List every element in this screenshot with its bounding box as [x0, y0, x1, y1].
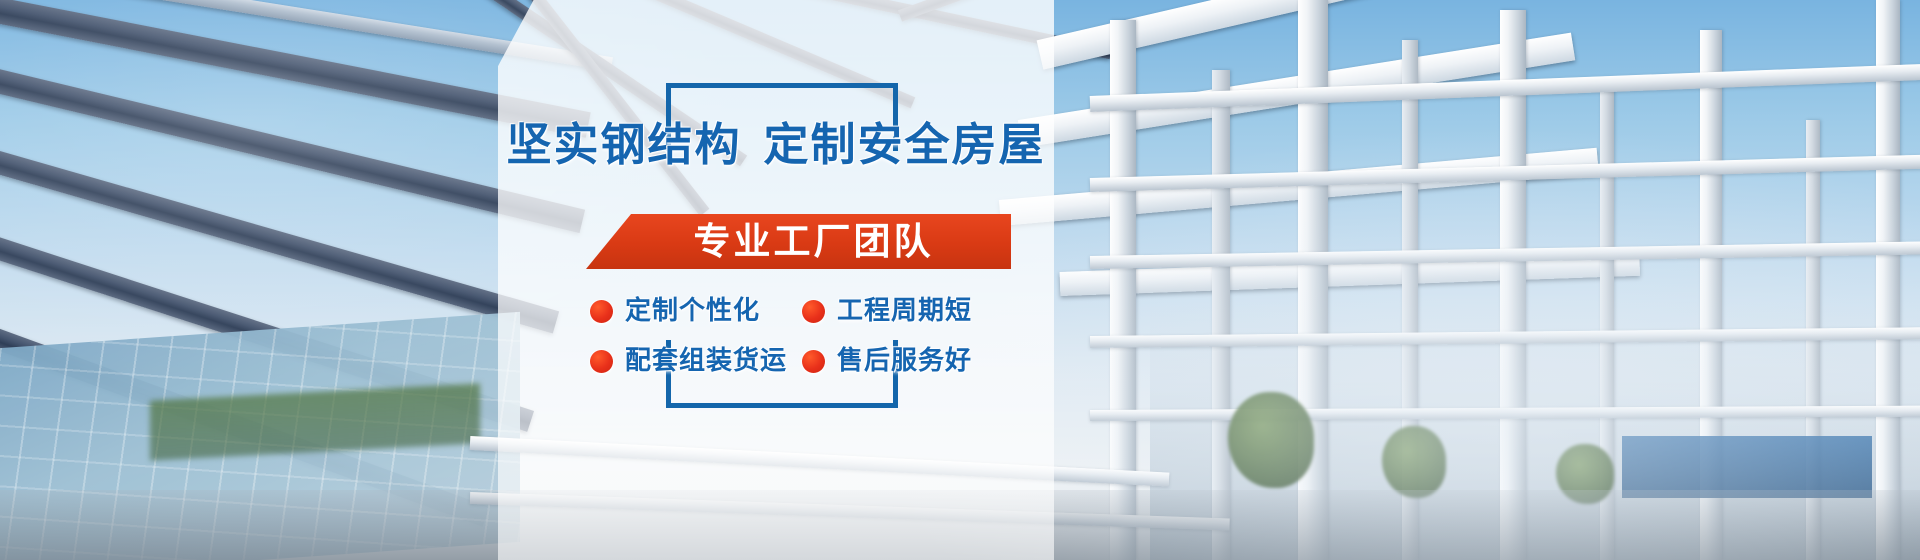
feature-item-3: 配套组装货运 — [590, 338, 802, 384]
tree-2 — [1382, 426, 1446, 498]
feature-list: 定制个性化 工程周期短 配套组装货运 售后服务好 — [590, 288, 1010, 384]
hero-banner: 坚实钢结构定制安全房屋 专业工厂团队 定制个性化 工程周期短 配套组装货运 售后… — [0, 0, 1920, 560]
feature-item-2: 工程周期短 — [802, 288, 1010, 334]
distant-blue-building — [1622, 436, 1872, 498]
feature-label: 工程周期短 — [837, 298, 972, 324]
headline-part-1: 坚实钢结构 — [506, 118, 741, 171]
banner-content: 坚实钢结构定制安全房屋 专业工厂团队 定制个性化 工程周期短 配套组装货运 售后… — [498, 0, 1054, 560]
feature-label: 定制个性化 — [625, 298, 760, 324]
bullet-dot-icon — [802, 350, 825, 373]
bullet-dot-icon — [590, 300, 613, 323]
feature-label: 售后服务好 — [837, 348, 972, 374]
banner-headline: 坚实钢结构定制安全房屋 — [498, 122, 1054, 167]
red-ribbon-banner: 专业工厂团队 — [586, 214, 1011, 269]
feature-item-4: 售后服务好 — [802, 338, 1010, 384]
bullet-dot-icon — [590, 350, 613, 373]
feature-label: 配套组装货运 — [625, 348, 787, 374]
feature-item-1: 定制个性化 — [590, 288, 802, 334]
bullet-dot-icon — [802, 300, 825, 323]
tree-1 — [1228, 392, 1314, 488]
headline-part-2: 定制安全房屋 — [764, 118, 1046, 171]
ribbon-label: 专业工厂团队 — [664, 223, 934, 260]
